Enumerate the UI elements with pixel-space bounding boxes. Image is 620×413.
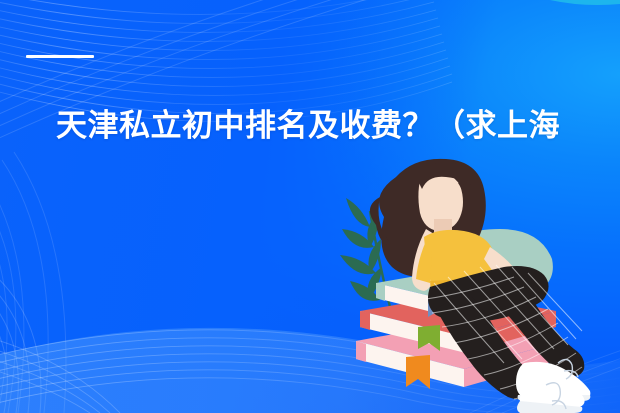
accent-rule	[26, 55, 94, 58]
banner-card: 天津私立初中排名及收费？（求上海	[0, 0, 620, 413]
bookmark-orange	[406, 355, 430, 389]
hero-illustration	[318, 155, 620, 413]
page-title: 天津私立初中排名及收费？（求上海	[56, 106, 616, 146]
